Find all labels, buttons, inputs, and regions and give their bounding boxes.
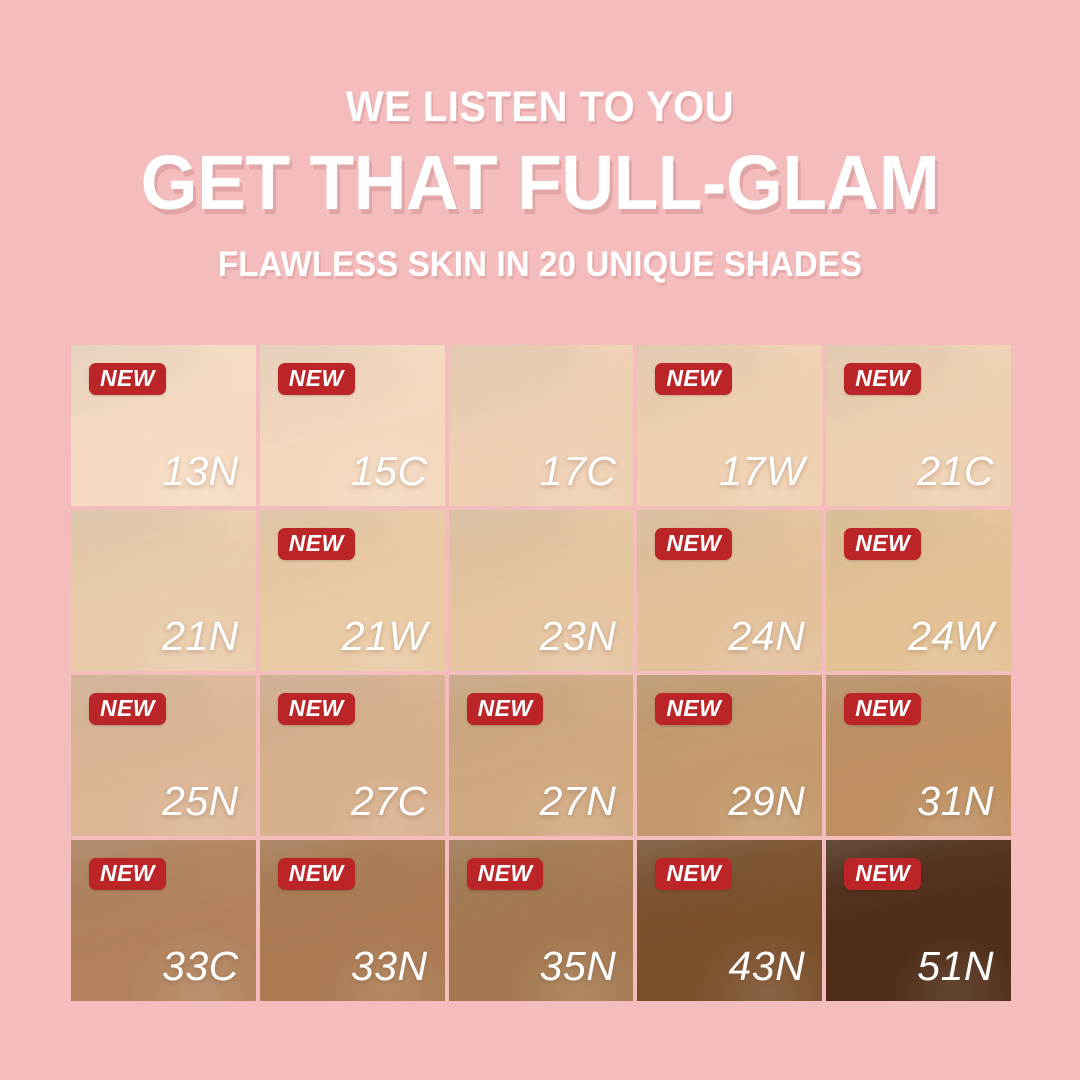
new-badge: NEW [278, 528, 355, 560]
shade-swatch[interactable]: NEW29N [637, 675, 822, 836]
shade-code-label: 24W [908, 616, 994, 657]
swatch-sheen-shadow [449, 345, 599, 457]
poster-header: WE LISTEN TO YOU GET THAT FULL-GLAM FLAW… [0, 0, 1080, 282]
shade-code-label: 31N [917, 781, 994, 822]
shade-swatch[interactable]: NEW17C [449, 345, 634, 506]
shade-code-label: 13N [162, 451, 239, 492]
new-badge: NEW [844, 363, 921, 395]
shade-swatch[interactable]: NEW21W [260, 510, 445, 671]
swatch-sheen-shadow [260, 345, 410, 457]
shade-swatch[interactable]: NEW21N [71, 510, 256, 671]
swatch-sheen-shadow [637, 840, 787, 952]
swatch-sheen-shadow [826, 675, 977, 787]
shade-swatch[interactable]: NEW24W [826, 510, 1011, 671]
eyebrow-text: WE LISTEN TO YOU [38, 86, 1042, 129]
swatch-sheen-shadow [71, 510, 221, 622]
shade-swatch[interactable]: NEW13N [71, 345, 256, 506]
shade-code-label: 17W [719, 451, 805, 492]
shade-swatch[interactable]: NEW17W [637, 345, 822, 506]
swatch-sheen-shadow [260, 840, 410, 952]
subtitle-text: FLAWLESS SKIN IN 20 UNIQUE SHADES [32, 247, 1047, 282]
new-badge: NEW [844, 858, 921, 890]
shade-swatch[interactable]: NEW33N [260, 840, 445, 1001]
swatch-sheen-shadow [260, 675, 410, 787]
new-badge: NEW [89, 693, 166, 725]
shade-code-label: 33N [351, 946, 428, 987]
swatch-sheen-shadow [71, 345, 221, 457]
swatch-sheen-shadow [826, 345, 977, 457]
shade-code-label: 29N [728, 781, 805, 822]
shade-code-label: 51N [917, 946, 994, 987]
swatch-sheen-shadow [449, 675, 599, 787]
shade-code-label: 33C [162, 946, 239, 987]
shade-code-label: 21N [162, 616, 239, 657]
swatch-sheen-shadow [449, 840, 599, 952]
shade-range-poster: WE LISTEN TO YOU GET THAT FULL-GLAM FLAW… [0, 0, 1080, 1080]
shade-code-label: 43N [728, 946, 805, 987]
shade-swatch[interactable]: NEW33C [71, 840, 256, 1001]
shade-swatch[interactable]: NEW27N [449, 675, 634, 836]
shade-code-label: 27N [540, 781, 617, 822]
shade-swatch[interactable]: NEW24N [637, 510, 822, 671]
swatch-sheen-shadow [449, 510, 599, 622]
new-badge: NEW [89, 363, 166, 395]
shade-code-label: 24N [728, 616, 805, 657]
new-badge: NEW [655, 693, 732, 725]
shade-code-label: 25N [162, 781, 239, 822]
shade-code-label: 27C [351, 781, 428, 822]
shade-code-label: 15C [351, 451, 428, 492]
swatch-sheen-shadow [637, 675, 787, 787]
shade-code-label: 21C [917, 451, 994, 492]
shade-code-label: 17C [540, 451, 617, 492]
shade-swatch[interactable]: NEW51N [826, 840, 1011, 1001]
new-badge: NEW [278, 693, 355, 725]
swatch-sheen-shadow [637, 345, 787, 457]
swatch-sheen-shadow [260, 510, 410, 622]
shade-swatch[interactable]: NEW23N [449, 510, 634, 671]
shade-swatch[interactable]: NEW27C [260, 675, 445, 836]
new-badge: NEW [655, 363, 732, 395]
shade-code-label: 35N [540, 946, 617, 987]
new-badge: NEW [467, 693, 544, 725]
swatch-sheen-shadow [71, 840, 221, 952]
shade-swatch-grid: NEW13NNEW15CNEW17CNEW17WNEW21CNEW21NNEW2… [71, 345, 1011, 1001]
swatch-sheen-shadow [71, 675, 221, 787]
new-badge: NEW [467, 858, 544, 890]
shade-swatch[interactable]: NEW21C [826, 345, 1011, 506]
shade-swatch[interactable]: NEW15C [260, 345, 445, 506]
new-badge: NEW [278, 363, 355, 395]
new-badge: NEW [278, 858, 355, 890]
shade-swatch[interactable]: NEW43N [637, 840, 822, 1001]
new-badge: NEW [655, 858, 732, 890]
swatch-sheen-shadow [637, 510, 787, 622]
new-badge: NEW [89, 858, 166, 890]
shade-code-label: 23N [540, 616, 617, 657]
new-badge: NEW [844, 528, 921, 560]
shade-swatch[interactable]: NEW35N [449, 840, 634, 1001]
shade-swatch[interactable]: NEW25N [71, 675, 256, 836]
swatch-sheen-shadow [826, 840, 977, 952]
swatch-sheen-shadow [826, 510, 977, 622]
shade-code-label: 21W [342, 616, 428, 657]
new-badge: NEW [844, 693, 921, 725]
page-title: GET THAT FULL-GLAM [27, 145, 1053, 222]
shade-swatch[interactable]: NEW31N [826, 675, 1011, 836]
new-badge: NEW [655, 528, 732, 560]
